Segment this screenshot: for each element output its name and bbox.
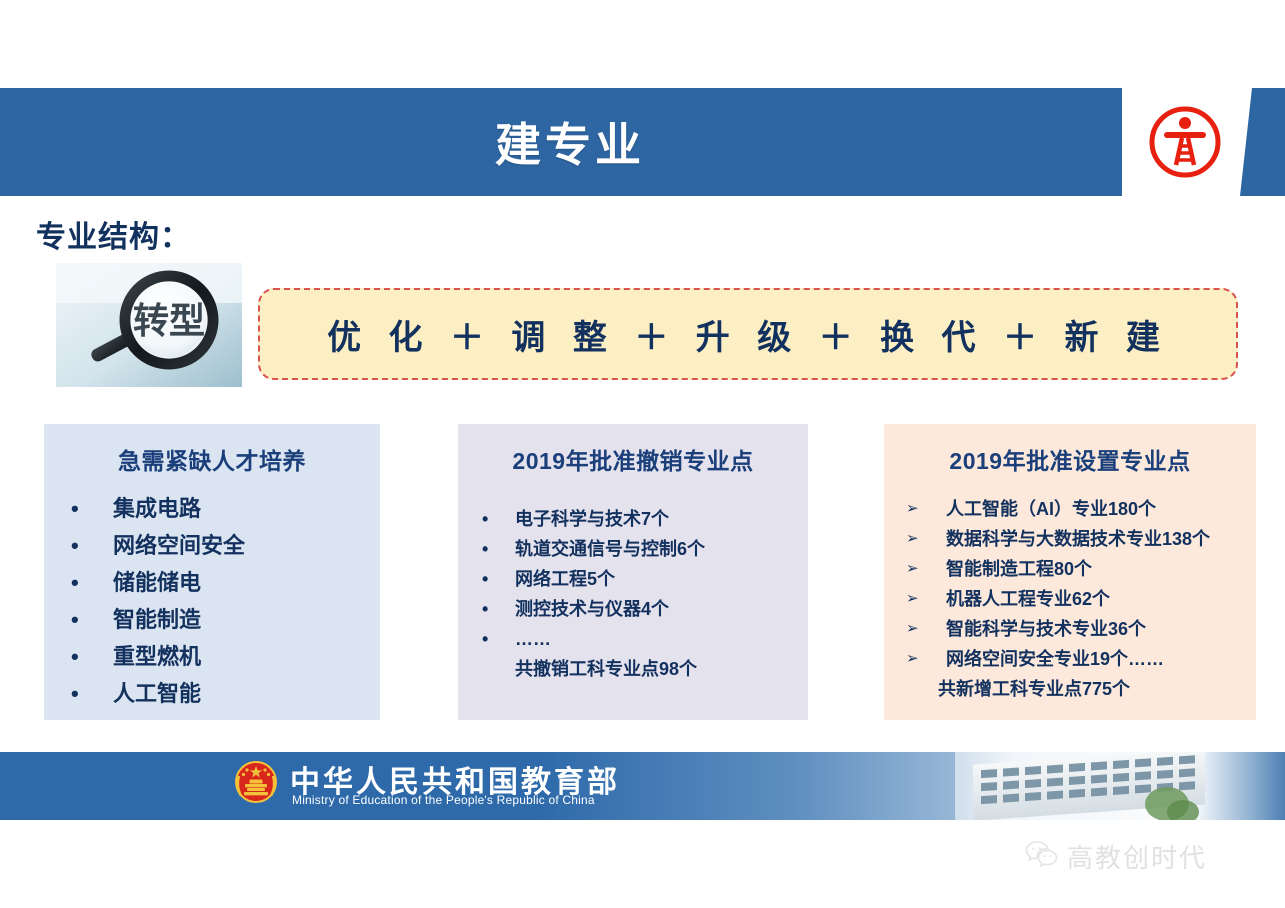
ministry-building-photo bbox=[955, 752, 1285, 820]
page-title: 建专业 bbox=[0, 88, 1140, 196]
magnifier-lens-text: 转型 bbox=[133, 301, 205, 341]
list-item: • 网络工程5个 bbox=[472, 564, 794, 594]
arrow-bullet-icon: ➢ bbox=[898, 524, 946, 554]
list-item-label: 数据科学与大数据技术专业138个 bbox=[946, 524, 1210, 554]
list-item: • 重型燃机 bbox=[58, 638, 366, 675]
bullet-icon: • bbox=[472, 564, 515, 594]
list-item-label: 智能科学与技术专业36个 bbox=[946, 614, 1146, 644]
bullet-icon: • bbox=[58, 564, 113, 601]
panel-list: • 电子科学与技术7个 • 轨道交通信号与控制6个 • 网络工程5个 • 测控技… bbox=[472, 504, 794, 654]
list-item: • 轨道交通信号与控制6个 bbox=[472, 534, 794, 564]
list-item: • …… bbox=[472, 624, 794, 654]
list-item: • 电子科学与技术7个 bbox=[472, 504, 794, 534]
list-item-label: 网络工程5个 bbox=[515, 564, 615, 594]
formula-text: 优 化 ＋ 调 整 ＋ 升 级 ＋ 换 代 ＋ 新 建 bbox=[327, 310, 1169, 359]
bullet-icon: • bbox=[58, 490, 113, 527]
watermark: 高教创时代 bbox=[1025, 838, 1207, 875]
header-band: 建专业 bbox=[0, 88, 1285, 196]
panel-title: 2019年批准设置专业点 bbox=[898, 442, 1242, 476]
wechat-icon bbox=[1025, 840, 1059, 873]
list-item: ➢ 网络空间安全专业19个…… bbox=[898, 644, 1242, 674]
list-item-label: 电子科学与技术7个 bbox=[515, 504, 669, 534]
bullet-icon: • bbox=[58, 638, 113, 675]
panel-list: • 集成电路 • 网络空间安全 • 储能储电 • 智能制造 • 重型燃机 • 人… bbox=[58, 490, 366, 712]
panel-summary: 共撤销工科专业点98个 bbox=[472, 654, 794, 684]
panel-revoked-majors: 2019年批准撤销专业点 • 电子科学与技术7个 • 轨道交通信号与控制6个 •… bbox=[458, 424, 808, 720]
arrow-bullet-icon: ➢ bbox=[898, 494, 946, 524]
formula-banner: 优 化 ＋ 调 整 ＋ 升 级 ＋ 换 代 ＋ 新 建 bbox=[258, 288, 1238, 380]
bullet-icon: • bbox=[472, 594, 515, 624]
list-item-label: 网络空间安全专业19个…… bbox=[946, 644, 1164, 674]
list-item: ➢ 智能制造工程80个 bbox=[898, 554, 1242, 584]
panel-summary: 共新增工科专业点775个 bbox=[898, 674, 1242, 704]
list-item-label: 人工智能（AI）专业180个 bbox=[946, 494, 1156, 524]
ministry-name-en: Ministry of Education of the People's Re… bbox=[292, 793, 595, 807]
list-item-label: 测控技术与仪器4个 bbox=[515, 594, 669, 624]
bullet-icon: • bbox=[58, 601, 113, 638]
list-item-label: 集成电路 bbox=[113, 490, 201, 527]
list-item: • 储能储电 bbox=[58, 564, 366, 601]
list-item-label: 机器人工程专业62个 bbox=[946, 584, 1110, 614]
list-item: • 人工智能 bbox=[58, 675, 366, 712]
bullet-icon: • bbox=[472, 534, 515, 564]
arrow-bullet-icon: ➢ bbox=[898, 554, 946, 584]
header-blue-accent-shape bbox=[1240, 88, 1285, 196]
panel-title: 急需紧缺人才培养 bbox=[58, 442, 366, 476]
list-item-label: 重型燃机 bbox=[113, 638, 201, 675]
list-item: ➢ 机器人工程专业62个 bbox=[898, 584, 1242, 614]
magnifying-glass-photo: 转型 bbox=[56, 263, 242, 387]
panel-title: 2019年批准撤销专业点 bbox=[472, 442, 794, 476]
list-item-label: 智能制造 bbox=[113, 601, 201, 638]
list-item: ➢ 人工智能（AI）专业180个 bbox=[898, 494, 1242, 524]
panel-urgent-talent: 急需紧缺人才培养 • 集成电路 • 网络空间安全 • 储能储电 • 智能制造 •… bbox=[44, 424, 380, 720]
panel-approved-majors: 2019年批准设置专业点 ➢ 人工智能（AI）专业180个 ➢ 数据科学与大数据… bbox=[884, 424, 1256, 720]
list-item-label: …… bbox=[515, 624, 551, 654]
arrow-bullet-icon: ➢ bbox=[898, 614, 946, 644]
watermark-text: 高教创时代 bbox=[1067, 838, 1207, 875]
bullet-icon: • bbox=[58, 675, 113, 712]
list-item: ➢ 智能科学与技术专业36个 bbox=[898, 614, 1242, 644]
list-item: • 测控技术与仪器4个 bbox=[472, 594, 794, 624]
list-item: • 智能制造 bbox=[58, 601, 366, 638]
list-item-label: 人工智能 bbox=[113, 675, 201, 712]
list-item-label: 轨道交通信号与控制6个 bbox=[515, 534, 705, 564]
list-item: ➢ 数据科学与大数据技术专业138个 bbox=[898, 524, 1242, 554]
list-item-label: 网络空间安全 bbox=[113, 527, 245, 564]
list-item: • 网络空间安全 bbox=[58, 527, 366, 564]
section-label: 专业结构： bbox=[36, 212, 191, 256]
arrow-bullet-icon: ➢ bbox=[898, 584, 946, 614]
panel-list: ➢ 人工智能（AI）专业180个 ➢ 数据科学与大数据技术专业138个 ➢ 智能… bbox=[898, 494, 1242, 674]
bullet-icon: • bbox=[472, 504, 515, 534]
list-item-label: 储能储电 bbox=[113, 564, 201, 601]
national-emblem-icon bbox=[232, 756, 280, 808]
bullet-icon: • bbox=[58, 527, 113, 564]
list-item: • 集成电路 bbox=[58, 490, 366, 527]
school-tower-logo-icon bbox=[1146, 103, 1224, 181]
bullet-icon: • bbox=[472, 624, 515, 654]
panels-row: 急需紧缺人才培养 • 集成电路 • 网络空间安全 • 储能储电 • 智能制造 •… bbox=[0, 424, 1285, 724]
list-item-label: 智能制造工程80个 bbox=[946, 554, 1092, 584]
arrow-bullet-icon: ➢ bbox=[898, 644, 946, 674]
